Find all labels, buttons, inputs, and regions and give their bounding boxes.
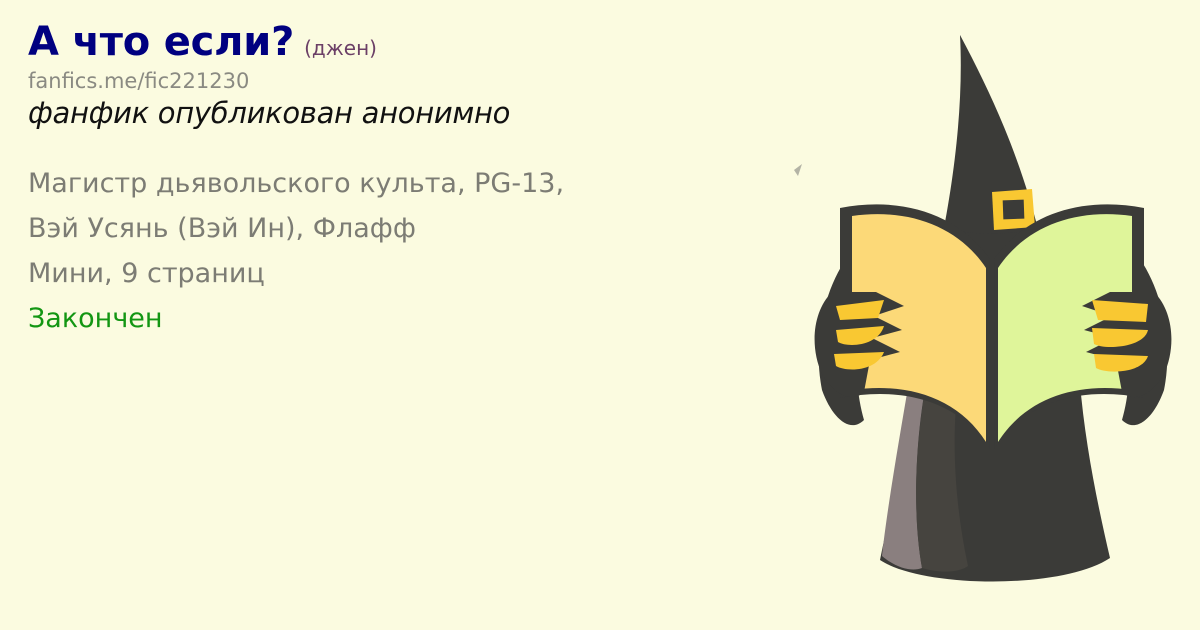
category-label: (джен) bbox=[304, 36, 377, 60]
wizard-reading-book-icon bbox=[792, 0, 1192, 630]
fic-url[interactable]: fanfics.me/fic221230 bbox=[28, 68, 818, 94]
author-line: фанфик опубликован анонимно bbox=[28, 95, 818, 131]
fanfic-preview-card: А что если? (джен) fanfics.me/fic221230 … bbox=[0, 0, 1200, 630]
page-title: А что если? bbox=[28, 18, 294, 66]
meta-line-fandom-rating: Магистр дьявольского культа, PG-13, bbox=[28, 161, 818, 206]
status-badge: Закончен bbox=[28, 296, 818, 341]
meta-line-size-pages: Мини, 9 страниц bbox=[28, 251, 818, 296]
meta-line-characters-genre: Вэй Усянь (Вэй Ин), Флафф bbox=[28, 206, 818, 251]
title-row: А что если? (джен) bbox=[28, 18, 818, 66]
text-column: А что если? (джен) fanfics.me/fic221230 … bbox=[28, 18, 818, 341]
meta-block: Магистр дьявольского культа, PG-13, Вэй … bbox=[28, 161, 818, 341]
illustration-wizard-reading bbox=[792, 0, 1192, 630]
